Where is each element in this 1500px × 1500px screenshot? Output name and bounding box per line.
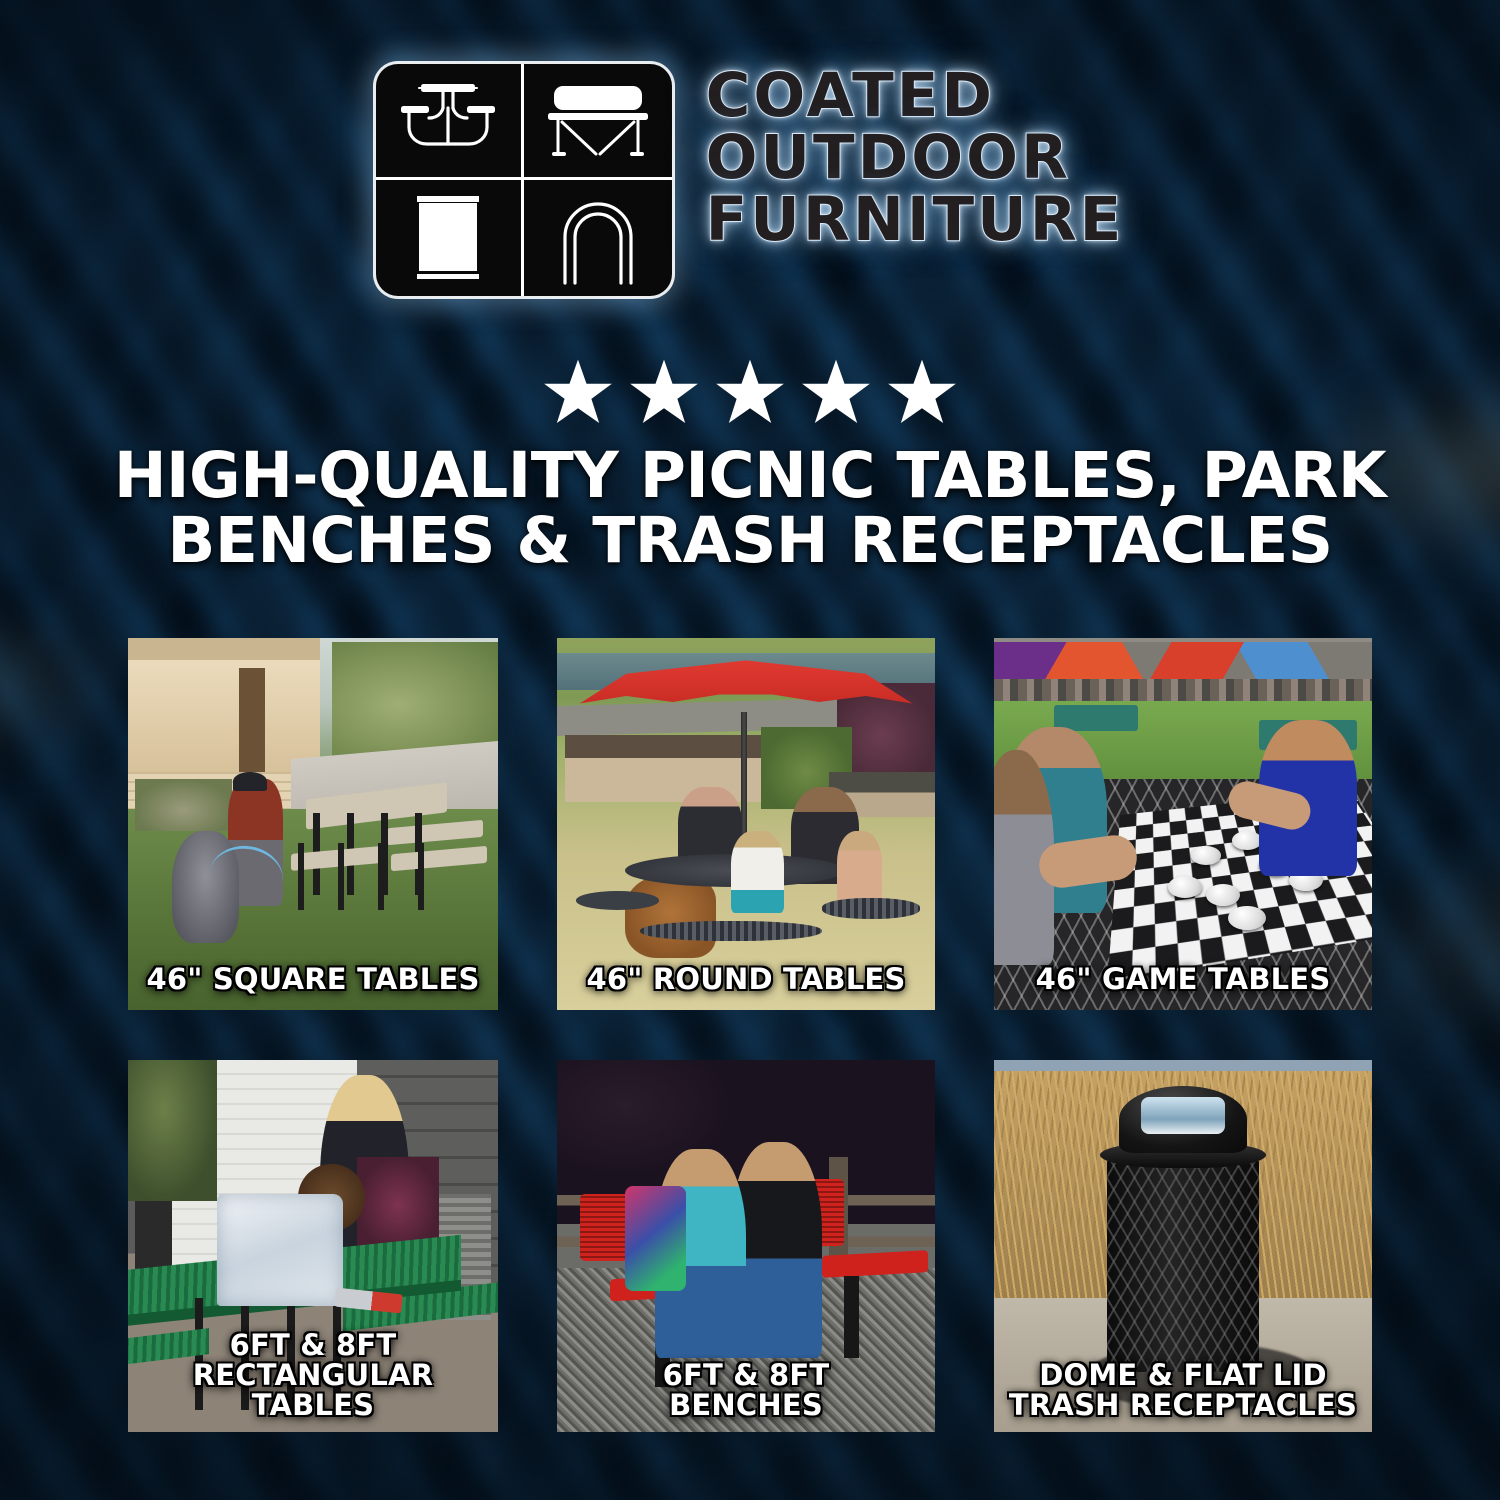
product-card-game-tables[interactable]: 46" GAME TABLES — [994, 638, 1372, 1010]
logo-mark — [376, 64, 672, 296]
product-card-square-tables[interactable]: 46" SQUARE TABLES — [128, 638, 498, 1010]
product-card-round-tables[interactable]: 46" ROUND TABLES — [557, 638, 935, 1010]
wordmark-line-1: COATED — [706, 66, 1125, 126]
product-grid: 46" SQUARE TABLES 46" ROUND TABLES — [128, 638, 1372, 1432]
product-photo-round-tables — [557, 638, 935, 1010]
picnic-table-icon — [376, 64, 524, 180]
product-photo-square-tables — [128, 638, 498, 1010]
star-icon — [886, 358, 958, 431]
product-card-benches[interactable]: 6FT & 8FT BENCHES — [557, 1060, 935, 1432]
product-caption: 46" ROUND TABLES — [563, 964, 929, 994]
bike-rack-icon — [524, 180, 672, 296]
star-icon — [800, 358, 872, 431]
product-caption: 46" SQUARE TABLES — [134, 964, 492, 994]
headline-line-2: BENCHES & TRASH RECEPTACLES — [90, 509, 1410, 574]
star-icon — [714, 358, 786, 431]
star-icon — [542, 358, 614, 431]
product-caption: 6FT & 8FT BENCHES — [563, 1360, 929, 1420]
product-caption: 6FT & 8FT RECTANGULAR TABLES — [134, 1330, 492, 1420]
product-photo-game-tables — [994, 638, 1372, 1010]
brand-logo: COATED OUTDOOR FURNITURE — [0, 64, 1500, 296]
brand-wordmark: COATED OUTDOOR FURNITURE — [706, 64, 1125, 249]
product-caption: 46" GAME TABLES — [1000, 964, 1366, 994]
product-caption: DOME & FLAT LID TRASH RECEPTACLES — [1000, 1360, 1366, 1420]
product-card-trash-receptacles[interactable]: DOME & FLAT LID TRASH RECEPTACLES — [994, 1060, 1372, 1432]
star-rating — [0, 358, 1500, 431]
star-icon — [628, 358, 700, 431]
trash-receptacle-icon — [376, 180, 524, 296]
poster-content: COATED OUTDOOR FURNITURE HIGH-QUALITY PI… — [0, 0, 1500, 1500]
headline-line-1: HIGH-QUALITY PICNIC TABLES, PARK — [90, 444, 1410, 509]
park-bench-icon — [524, 64, 672, 180]
wordmark-line-2: OUTDOOR — [706, 128, 1125, 188]
product-card-rectangular-tables[interactable]: 6FT & 8FT RECTANGULAR TABLES — [128, 1060, 498, 1432]
wordmark-line-3: FURNITURE — [706, 190, 1125, 250]
page-title: HIGH-QUALITY PICNIC TABLES, PARK BENCHES… — [90, 444, 1410, 574]
